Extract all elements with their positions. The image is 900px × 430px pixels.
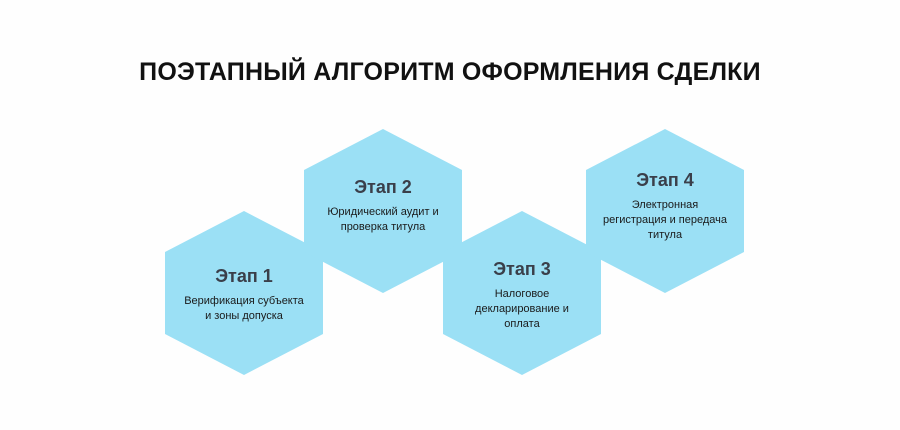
process-step-2[interactable]: Этап 2 Юридический аудит и проверка титу…	[304, 129, 462, 293]
step-2-content: Этап 2 Юридический аудит и проверка титу…	[320, 178, 446, 235]
step-3-content: Этап 3 Налоговое декларирование и оплата	[459, 260, 585, 332]
step-2-stage-label: Этап 2	[354, 178, 412, 198]
process-step-1[interactable]: Этап 1 Верификация субъекта и зоны допус…	[165, 211, 323, 375]
step-4-stage-label: Этап 4	[636, 171, 694, 191]
step-1-stage-label: Этап 1	[215, 267, 273, 287]
process-step-4[interactable]: Этап 4 Электронная регистрация и передач…	[586, 129, 744, 293]
slide-canvas: ПОЭТАПНЫЙ АЛГОРИТМ ОФОРМЛЕНИЯ СДЕЛКИ Эта…	[0, 0, 900, 430]
step-1-description: Верификация субъекта и зоны допуска	[181, 294, 307, 324]
step-1-content: Этап 1 Верификация субъекта и зоны допус…	[181, 267, 307, 324]
step-2-description: Юридический аудит и проверка титула	[320, 205, 446, 235]
step-4-content: Этап 4 Электронная регистрация и передач…	[602, 171, 728, 243]
hexagon-process-flow: Этап 1 Верификация субъекта и зоны допус…	[0, 0, 900, 430]
step-4-description: Электронная регистрация и передача титул…	[602, 198, 728, 244]
process-step-3[interactable]: Этап 3 Налоговое декларирование и оплата	[443, 211, 601, 375]
step-3-stage-label: Этап 3	[493, 260, 551, 280]
step-3-description: Налоговое декларирование и оплата	[459, 287, 585, 333]
